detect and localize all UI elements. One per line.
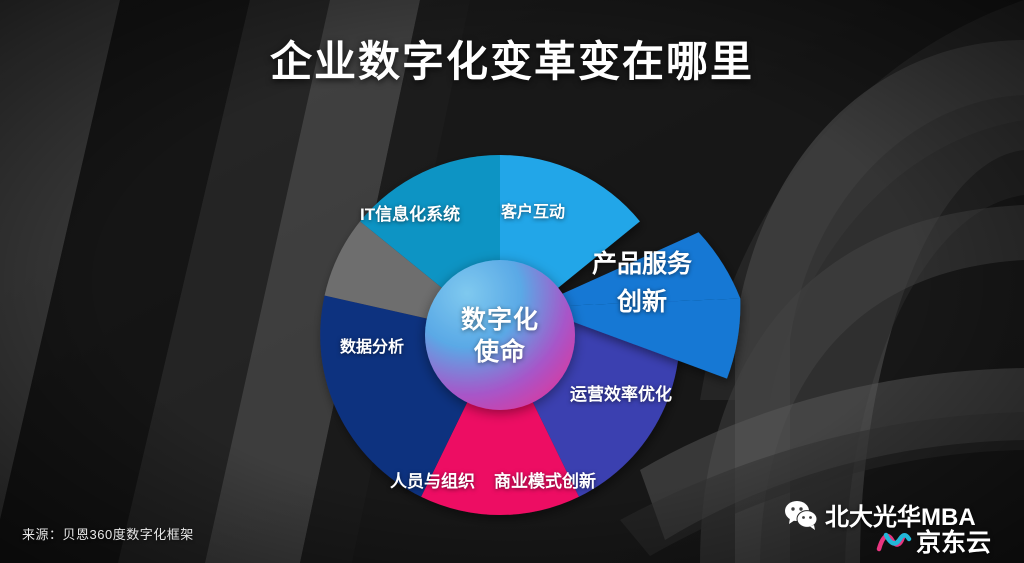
hub-circle[interactable] (425, 260, 575, 410)
donut-chart (290, 138, 750, 538)
watermark-jd-text: 京东云 (916, 523, 991, 559)
watermark-jd: 京东云 (876, 523, 991, 559)
slide-canvas: 企业数字化变革变在哪里 (0, 0, 1024, 563)
wechat-icon (784, 500, 818, 530)
source-note: 来源：贝恩360度数字化框架 (22, 524, 194, 543)
jd-cloud-icon (876, 526, 912, 556)
page-title: 企业数字化变革变在哪里 (270, 28, 754, 89)
title-block: 企业数字化变革变在哪里 (0, 28, 1024, 89)
watermark-group: 北大光华MBA 京东云 (784, 497, 1014, 559)
